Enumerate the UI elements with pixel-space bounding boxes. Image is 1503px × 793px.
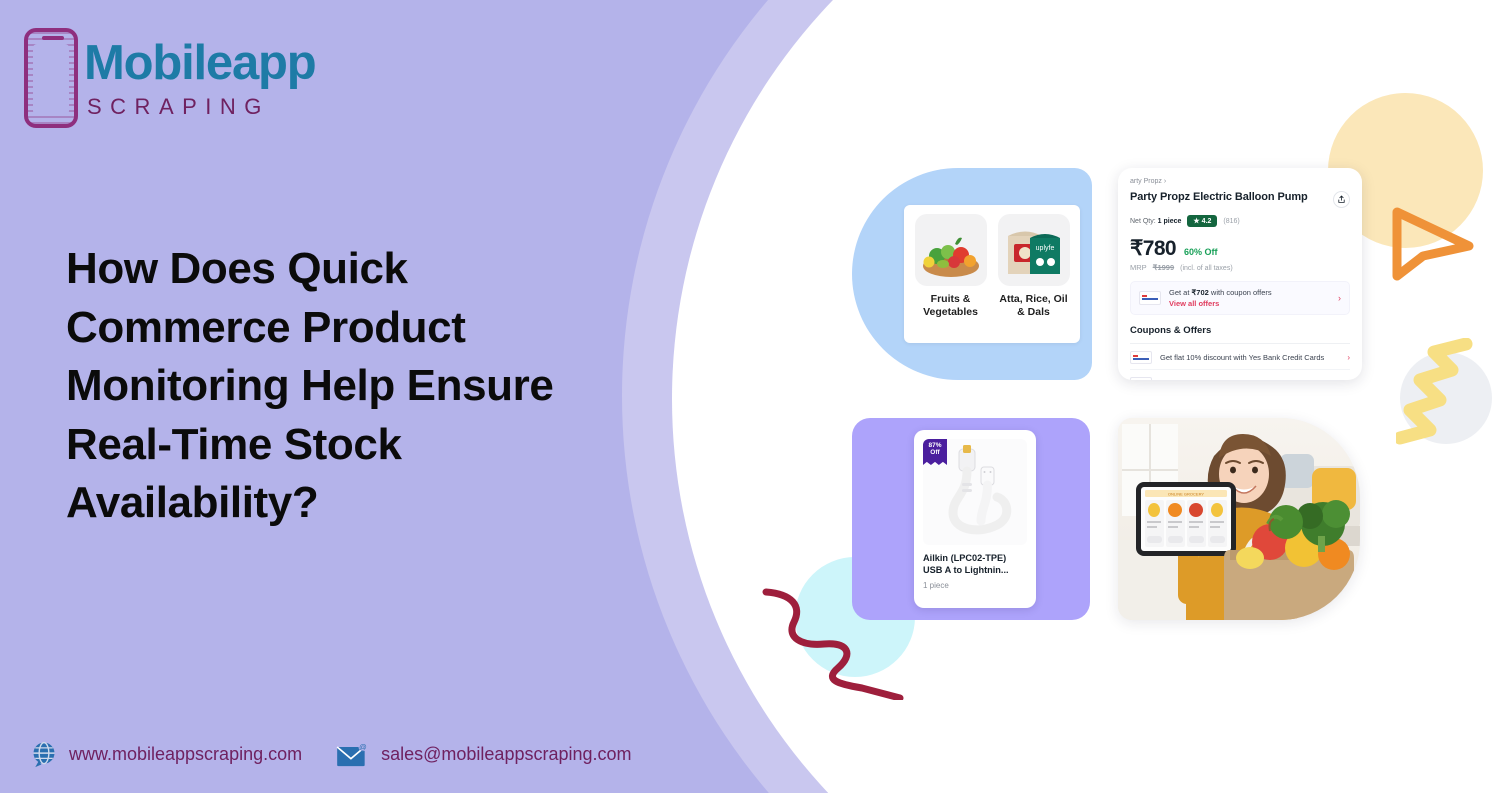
breadcrumb[interactable]: arty Propz › [1130, 178, 1350, 185]
woman-holding-grocery-bag-and-tablet-image: ONLINE GROCERY [1118, 418, 1360, 620]
net-qty: Net Qty: 1 piece [1130, 218, 1181, 225]
promo-banner: Mobileapp SCRAPING How Does Quick Commer… [0, 0, 1503, 793]
badge-off-label: Off [923, 449, 947, 456]
category-tile[interactable]: uplyfe Atta, Rice, Oil & Dals [996, 214, 1071, 334]
coupon-amount: ₹702 [1192, 288, 1209, 297]
offer-text: Get flat 10% discount with Yes Bank Cred… [1160, 353, 1339, 362]
view-all-offers-link[interactable]: View all offers [1169, 299, 1330, 308]
product-title: Party Propz Electric Balloon Pump [1130, 191, 1308, 203]
category-label: Atta, Rice, Oil & Dals [996, 293, 1071, 320]
category-label: Fruits & Vegetables [913, 293, 988, 320]
screenshot-collage: Fruits & Vegetables uplyfe [0, 0, 1503, 793]
categories-card[interactable]: Fruits & Vegetables uplyfe [852, 168, 1092, 380]
discount-badge: 87% Off [923, 439, 947, 465]
coupon-banner[interactable]: Get at ₹702 with coupon offers View all … [1130, 281, 1350, 315]
share-icon[interactable] [1333, 191, 1350, 208]
star-icon: ★ [1193, 217, 1199, 225]
category-tile[interactable]: Fruits & Vegetables [913, 214, 988, 334]
federal-bank-card-icon [1130, 377, 1152, 380]
rating-value: 4.2 [1202, 218, 1212, 225]
discount-percent: 60% Off [1184, 247, 1218, 257]
cable-product-qty: 1 piece [923, 581, 1027, 590]
offer-text: Get flat 10% Discount with Federal Bank … [1160, 379, 1339, 380]
net-qty-label: Net Qty: [1130, 218, 1156, 225]
offers-heading: Coupons & Offers [1130, 325, 1350, 344]
coupon-suffix: with coupon offers [1209, 288, 1272, 297]
mrp-label: MRP [1130, 263, 1147, 272]
mrp-value: ₹1999 [1153, 263, 1174, 272]
chevron-right-icon: › [1338, 293, 1341, 303]
offer-row[interactable]: Get flat 10% Discount with Federal Bank … [1130, 370, 1350, 380]
product-price: ₹780 [1130, 236, 1176, 261]
svg-text:uplyfe: uplyfe [1035, 245, 1054, 252]
review-count: (816) [1223, 218, 1239, 225]
vegetable-basket-image [915, 214, 987, 286]
tax-note: (incl. of all taxes) [1180, 265, 1233, 272]
svg-text:ONLINE GROCERY: ONLINE GROCERY [1168, 492, 1204, 497]
badge-percent: 87% [923, 442, 947, 449]
coupon-prefix: Get at [1169, 288, 1192, 297]
product-detail-card[interactable]: arty Propz › Party Propz Electric Balloo… [1118, 168, 1362, 380]
usb-lightning-cable-image: 87% Off [923, 439, 1027, 545]
chevron-right-icon: › [1347, 379, 1350, 380]
yes-bank-card-icon [1139, 291, 1161, 305]
chevron-right-icon: › [1347, 353, 1350, 362]
cable-product-name: Ailkin (LPC02-TPE) USB A to Lightnin... [923, 552, 1027, 576]
cable-product-card[interactable]: 87% Off Ailkin (LPC02 [852, 418, 1090, 620]
rating-badge: ★ 4.2 [1187, 215, 1217, 227]
net-qty-value: 1 piece [1158, 218, 1182, 225]
offer-row[interactable]: Get flat 10% discount with Yes Bank Cred… [1130, 344, 1350, 370]
grocery-packs-image: uplyfe [998, 214, 1070, 286]
yes-bank-card-icon [1130, 351, 1152, 364]
